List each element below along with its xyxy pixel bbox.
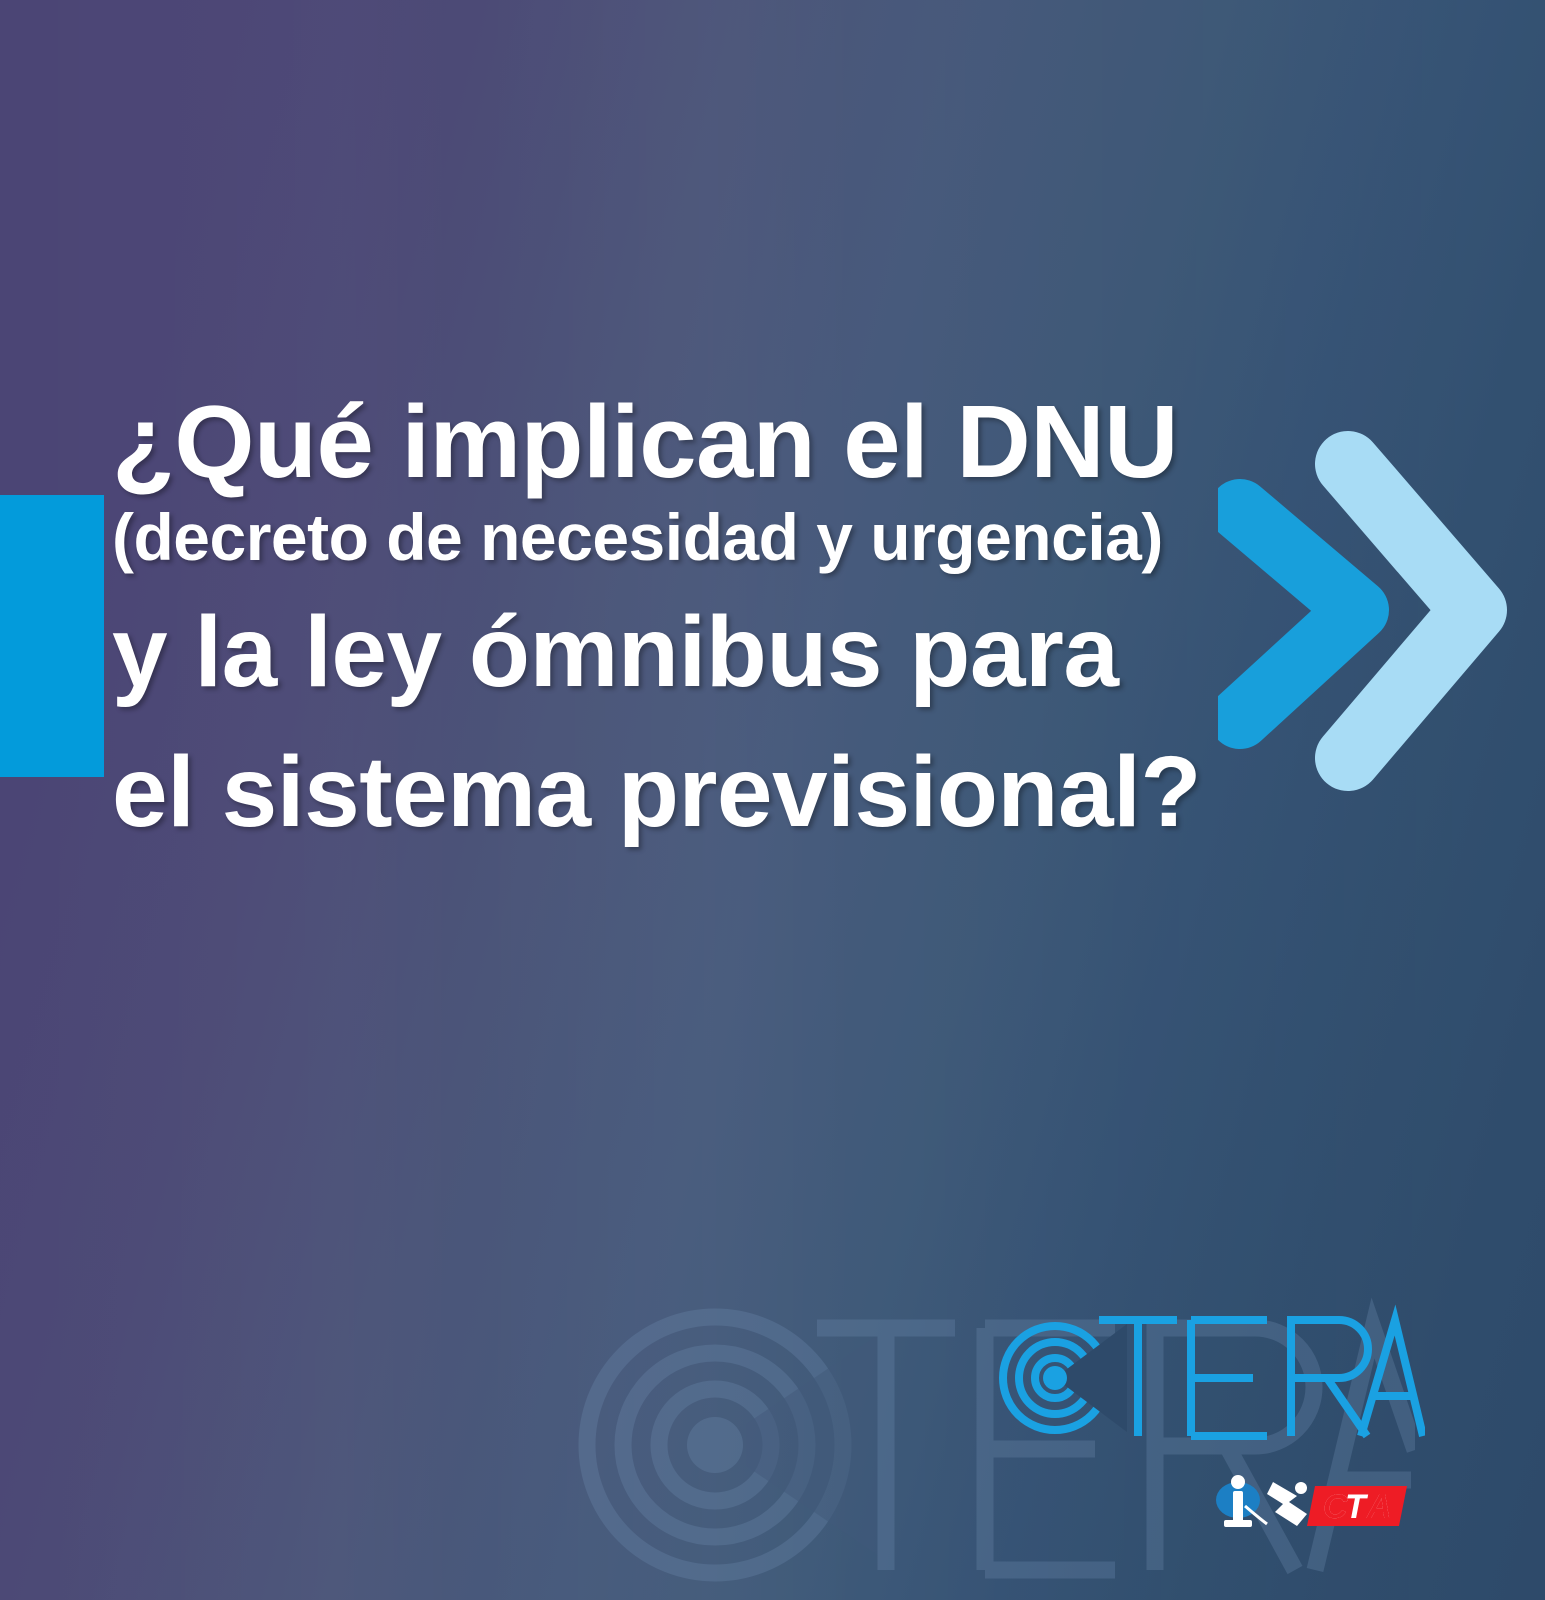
- headline-line-2: (decreto de necesidad y urgencia): [112, 495, 1412, 579]
- headline-block: ¿Qué implican el DNU (decreto de necesid…: [112, 382, 1412, 852]
- headline-line-4: el sistema previsional?: [112, 732, 1412, 852]
- cta-logo: C T A C A: [1211, 1466, 1407, 1532]
- headline-line-3: y la ley ómnibus para: [112, 592, 1412, 712]
- svg-text:C: C: [1323, 1488, 1348, 1526]
- poster-canvas: ¿Qué implican el DNU (decreto de necesid…: [0, 0, 1545, 1600]
- svg-text:A: A: [1366, 1488, 1392, 1526]
- left-accent-bar: [0, 495, 104, 777]
- svg-text:T: T: [1345, 1488, 1369, 1526]
- ctera-logo: [995, 1300, 1425, 1450]
- headline-line-1: ¿Qué implican el DNU: [112, 382, 1412, 501]
